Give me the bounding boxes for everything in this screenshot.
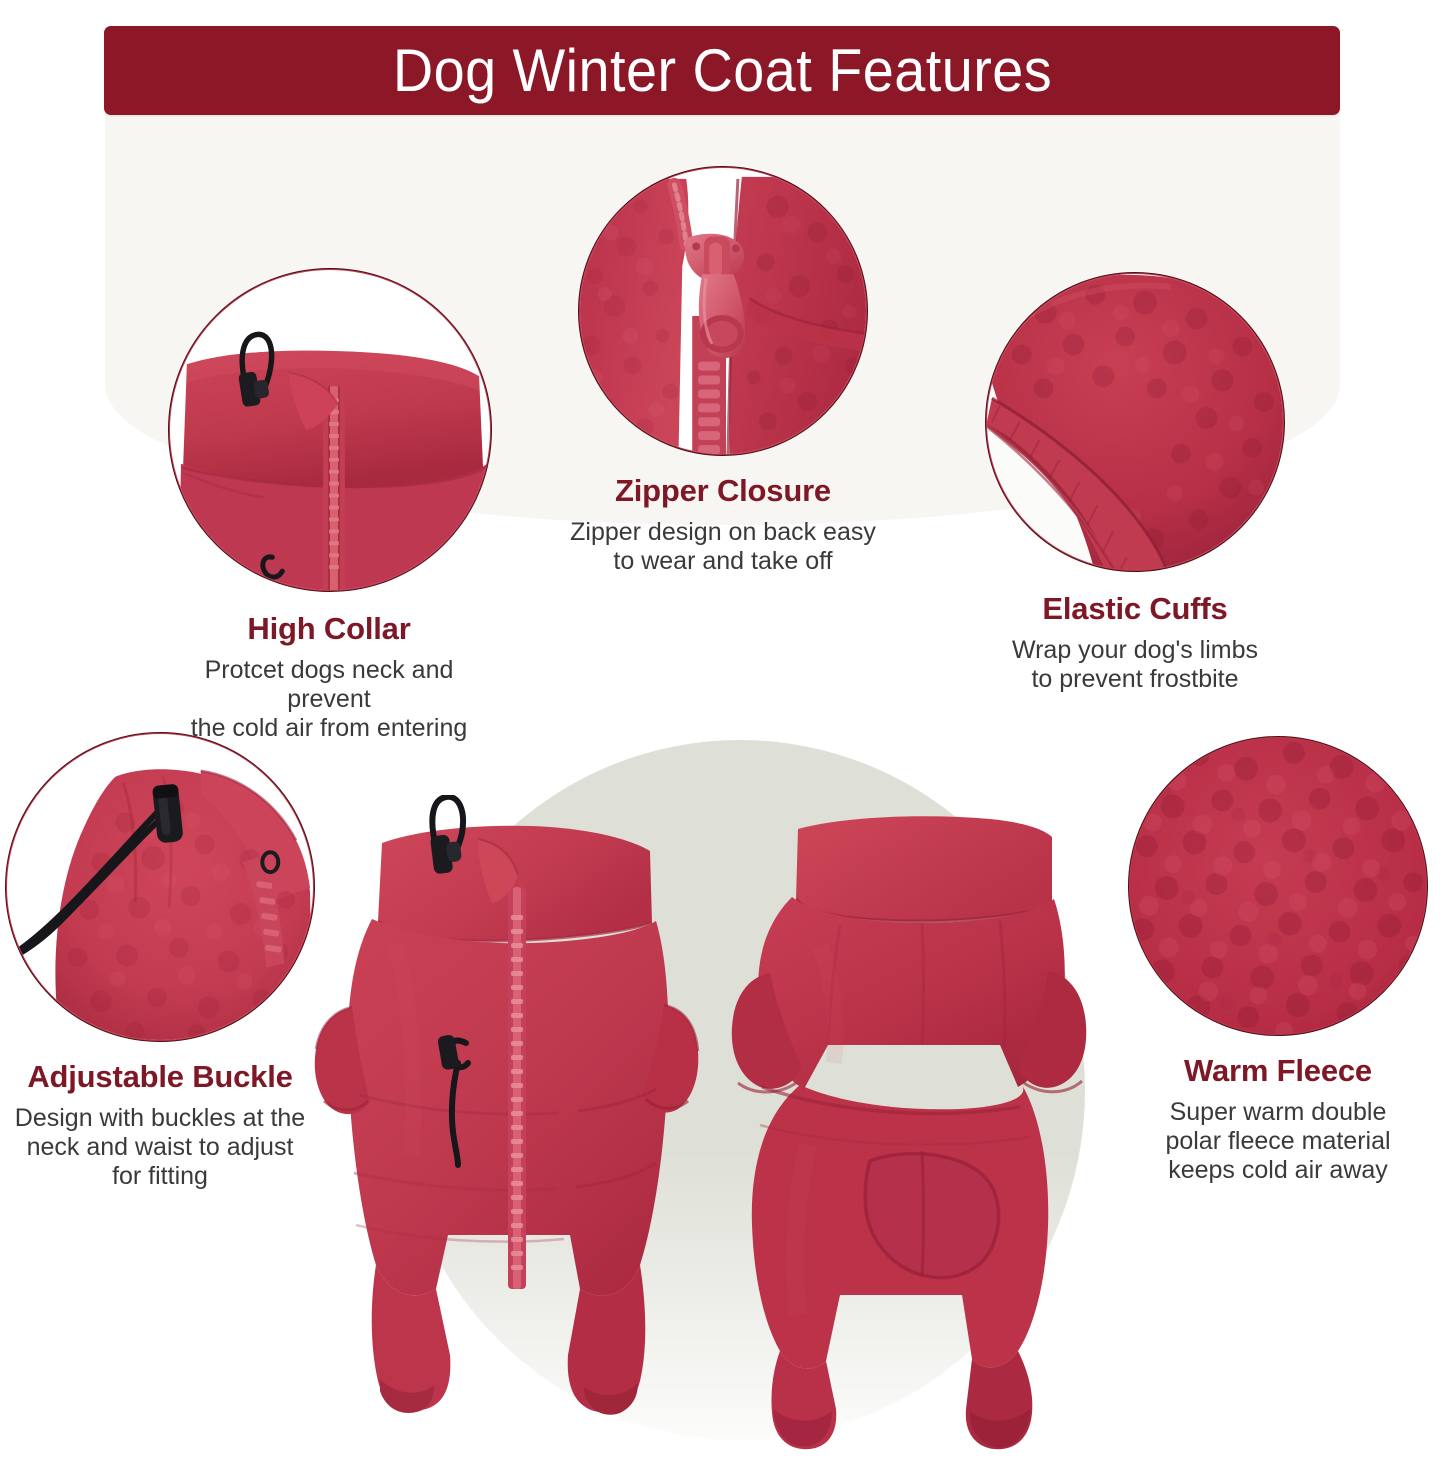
feature-title-high-collar: High Collar [164,612,494,647]
fleece-texture-closeup-image [1128,736,1428,1036]
product-image-back-view [700,795,1100,1450]
elastic-cuff-closeup-image [985,272,1285,572]
feature-desc-zipper-closure: Zipper design on back easy to wear and t… [533,518,913,576]
feature-title-warm-fleece: Warm Fleece [1123,1054,1433,1089]
high-collar-closeup-image [168,268,492,592]
feature-high-collar: High Collar Protcet dogs neck and preven… [168,268,498,743]
feature-title-zipper-closure: Zipper Closure [533,474,913,509]
feature-desc-high-collar: Protcet dogs neck and prevent the cold a… [164,656,494,743]
feature-caption-warm-fleece: Warm Fleece Super warm double polar flee… [1123,1054,1433,1185]
infographic-page: Dog Winter Coat Features [0,0,1445,1468]
feature-title-adjustable-buckle: Adjustable Buckle [0,1060,321,1095]
feature-desc-adjustable-buckle: Design with buckles at the neck and wais… [0,1104,321,1191]
feature-zipper-closure: Zipper Closure Zipper design on back eas… [578,166,868,576]
zipper-closeup-image [578,166,868,456]
product-image-front-view [300,795,710,1450]
feature-caption-elastic-cuffs: Elastic Cuffs Wrap your dog's limbs to p… [965,592,1305,694]
feature-title-elastic-cuffs: Elastic Cuffs [965,592,1305,627]
feature-caption-high-collar: High Collar Protcet dogs neck and preven… [164,612,494,743]
feature-desc-warm-fleece: Super warm double polar fleece material … [1123,1098,1433,1185]
feature-adjustable-buckle: Adjustable Buckle Design with buckles at… [5,732,315,1191]
feature-caption-zipper-closure: Zipper Closure Zipper design on back eas… [533,474,913,576]
buckle-closeup-image [5,732,315,1042]
feature-elastic-cuffs: Elastic Cuffs Wrap your dog's limbs to p… [985,272,1285,694]
title-banner: Dog Winter Coat Features [104,26,1340,115]
feature-warm-fleece: Warm Fleece Super warm double polar flee… [1128,736,1428,1185]
feature-desc-elastic-cuffs: Wrap your dog's limbs to prevent frostbi… [965,636,1305,694]
page-title: Dog Winter Coat Features [392,41,1051,101]
feature-caption-adjustable-buckle: Adjustable Buckle Design with buckles at… [0,1060,321,1191]
